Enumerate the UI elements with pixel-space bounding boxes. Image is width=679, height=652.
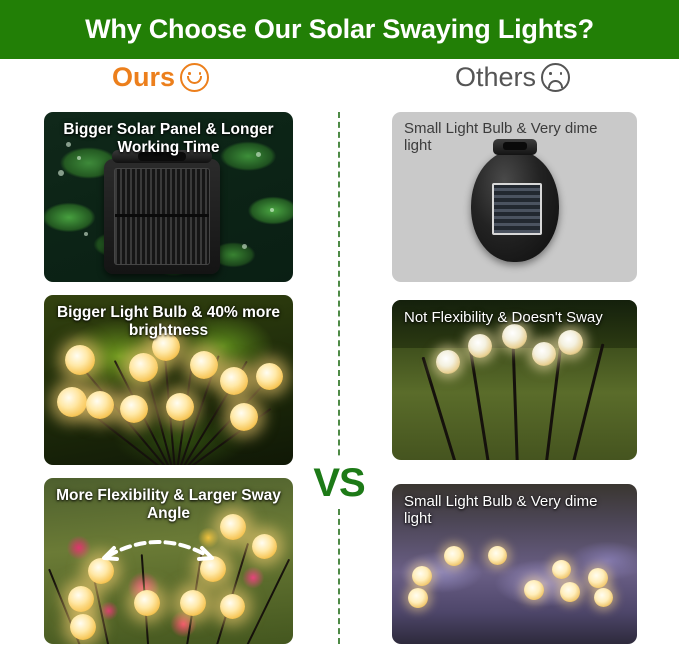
- bulb: [134, 590, 160, 616]
- ours-panel-row3: More Flexibility & Larger Sway Angle: [44, 478, 293, 644]
- ours-caption-row1: Bigger Solar Panel & Longer Working Time: [44, 112, 293, 156]
- bulb: [436, 350, 460, 374]
- others-caption-row2: Not Flexibility & Doesn't Sway: [392, 300, 637, 326]
- bulb: [68, 586, 94, 612]
- smiley-face-icon: [180, 63, 209, 92]
- vertical-divider: [338, 112, 340, 644]
- bulb: [588, 568, 608, 588]
- bulb: [412, 566, 432, 586]
- others-caption-row3: Small Light Bulb & Very dime light: [392, 484, 637, 527]
- column-label-ours: Ours: [112, 62, 209, 93]
- bulb: [502, 324, 527, 349]
- bulb: [180, 590, 206, 616]
- bulb: [120, 395, 148, 423]
- bulb: [129, 353, 158, 382]
- bulb: [220, 594, 245, 619]
- bulb: [560, 582, 580, 602]
- small-oval-solar-lamp-illustration: [471, 150, 559, 262]
- bulb: [468, 334, 492, 358]
- frowning-face-icon: [541, 63, 570, 92]
- column-labels: Ours Others: [0, 62, 679, 104]
- bulb: [532, 342, 556, 366]
- ours-panel-row2: Bigger Light Bulb & 40% more brightness: [44, 295, 293, 465]
- bulb: [190, 351, 218, 379]
- sway-arrow-icon: [98, 526, 218, 566]
- column-label-others-text: Others: [455, 62, 536, 93]
- bulb: [256, 363, 283, 390]
- bulb: [57, 387, 87, 417]
- page-title: Why Choose Our Solar Swaying Lights?: [85, 14, 594, 45]
- others-caption-row1: Small Light Bulb & Very dime light: [392, 112, 637, 154]
- others-panel-row2: Not Flexibility & Doesn't Sway: [392, 300, 637, 460]
- bulb: [65, 345, 95, 375]
- column-label-ours-text: Ours: [112, 62, 175, 93]
- bulb: [230, 403, 258, 431]
- bulb: [524, 580, 544, 600]
- others-panel-row1: Small Light Bulb & Very dime light: [392, 112, 637, 282]
- bulb: [558, 330, 583, 355]
- bulb: [252, 534, 277, 559]
- bulb: [408, 588, 428, 608]
- vs-badge: VS: [306, 459, 372, 507]
- ours-panel-row1: Bigger Solar Panel & Longer Working Time: [44, 112, 293, 282]
- comparison-grid: VS Bigger Solar Panel & Longer Working T…: [0, 104, 679, 652]
- large-solar-panel-illustration: [104, 159, 220, 274]
- column-label-others: Others: [455, 62, 570, 93]
- bulb: [444, 546, 464, 566]
- bulb: [86, 391, 114, 419]
- ours-caption-row3: More Flexibility & Larger Sway Angle: [44, 478, 293, 522]
- bulb: [552, 560, 571, 579]
- bulb: [166, 393, 194, 421]
- others-panel-row3: Small Light Bulb & Very dime light: [392, 484, 637, 644]
- bulb: [70, 614, 96, 640]
- bulb: [488, 546, 507, 565]
- header-banner: Why Choose Our Solar Swaying Lights?: [0, 0, 679, 59]
- ours-caption-row2: Bigger Light Bulb & 40% more brightness: [44, 295, 293, 339]
- bulb: [594, 588, 613, 607]
- bulb: [220, 367, 248, 395]
